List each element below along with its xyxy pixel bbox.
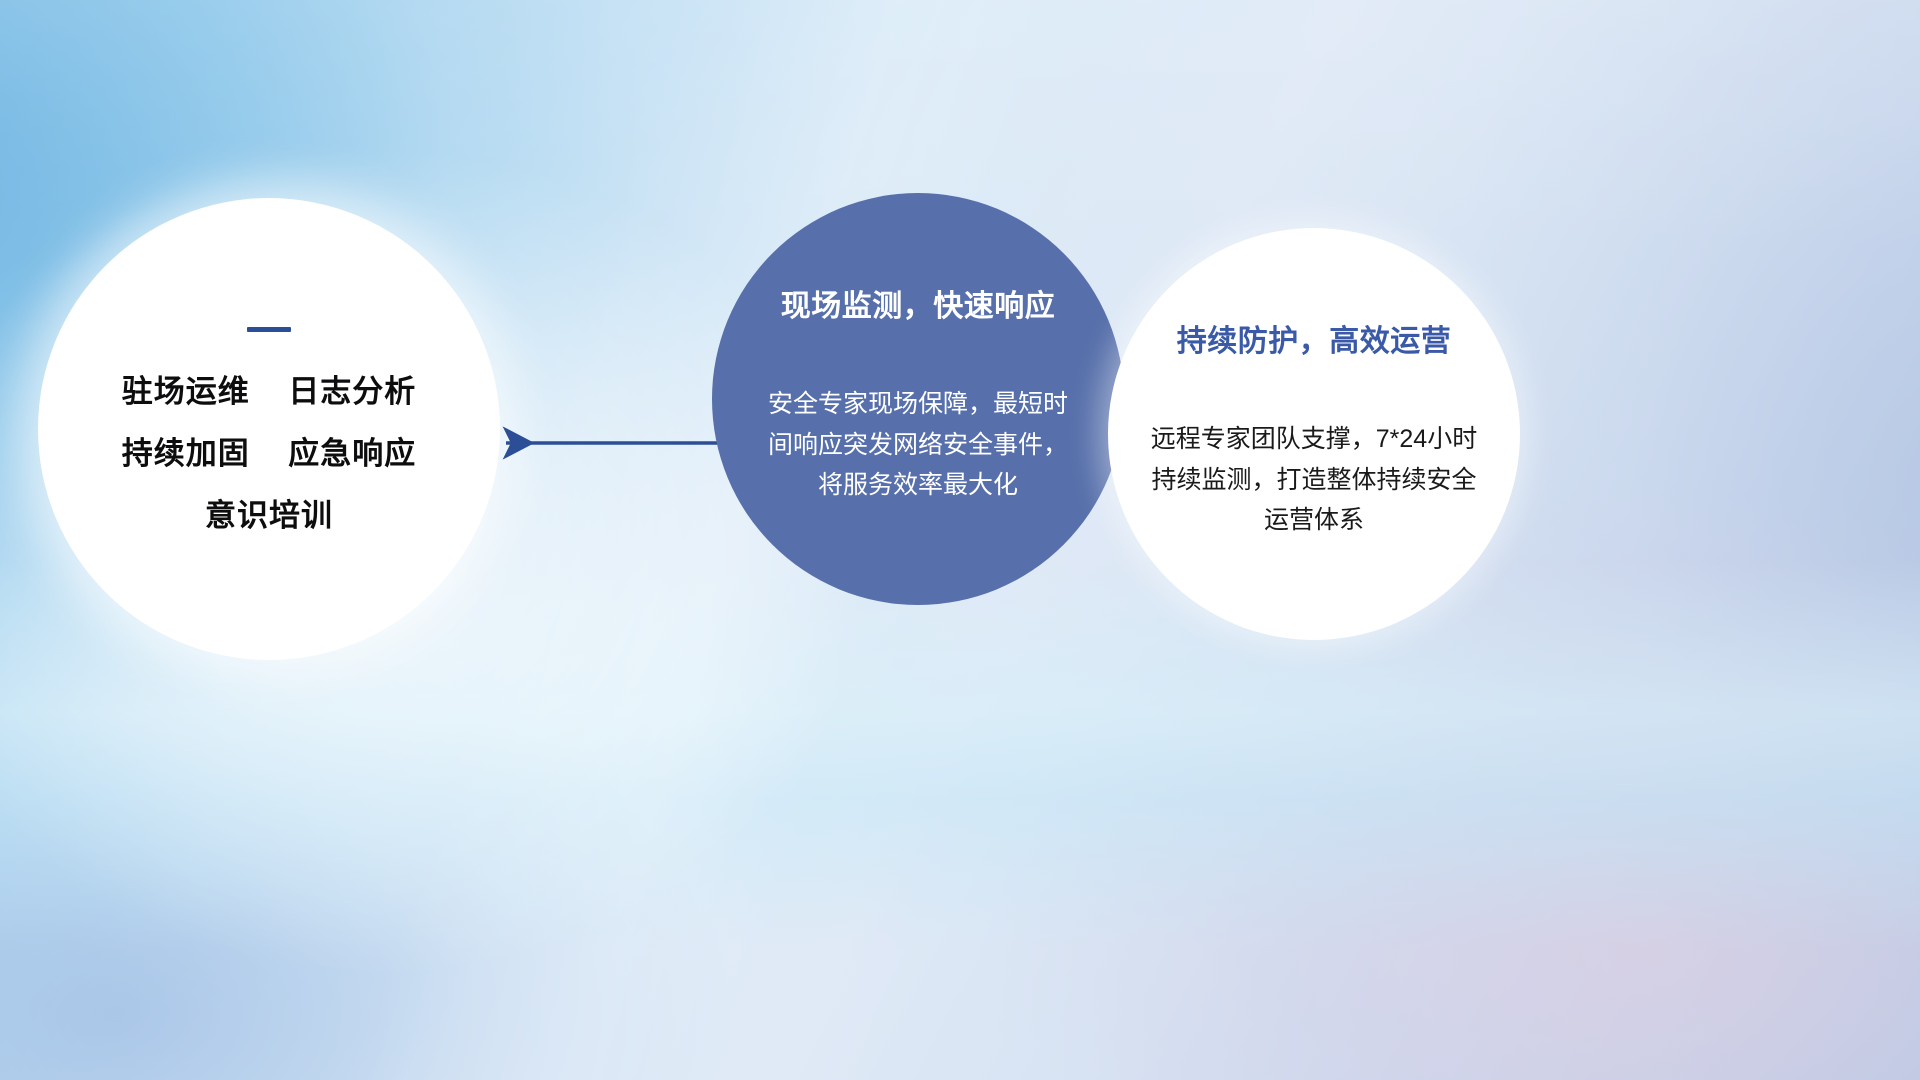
node-continuous-protection[interactable]: 持续防护，高效运营 远程专家团队支撑，7*24小时持续监测，打造整体持续安全运营… [1108,228,1520,640]
node-onsite-capabilities[interactable]: 驻场运维 日志分析 持续加固 应急响应 意识培训 [38,198,500,660]
continuous-protection-body: 远程专家团队支撑，7*24小时持续监测，打造整体持续安全运营体系 [1149,419,1479,541]
onsite-monitoring-title: 现场监测，快速响应 [781,292,1056,322]
title-divider-rule [247,327,291,332]
continuous-protection-title: 持续防护，高效运营 [1177,327,1452,357]
slide-canvas: 驻场运维 日志分析 持续加固 应急响应 意识培训 现场监测，快速响应 安全专家现… [0,0,1920,1080]
capability-line-3: 意识培训 [205,500,333,531]
onsite-monitoring-body: 安全专家现场保障，最短时间响应突发网络安全事件，将服务效率最大化 [764,384,1072,506]
arrow-mid-to-left-icon [492,424,722,462]
capability-line-2: 持续加固 应急响应 [122,438,416,469]
node-onsite-monitoring[interactable]: 现场监测，快速响应 安全专家现场保障，最短时间响应突发网络安全事件，将服务效率最… [712,193,1124,605]
capability-line-1: 驻场运维 日志分析 [122,376,416,407]
